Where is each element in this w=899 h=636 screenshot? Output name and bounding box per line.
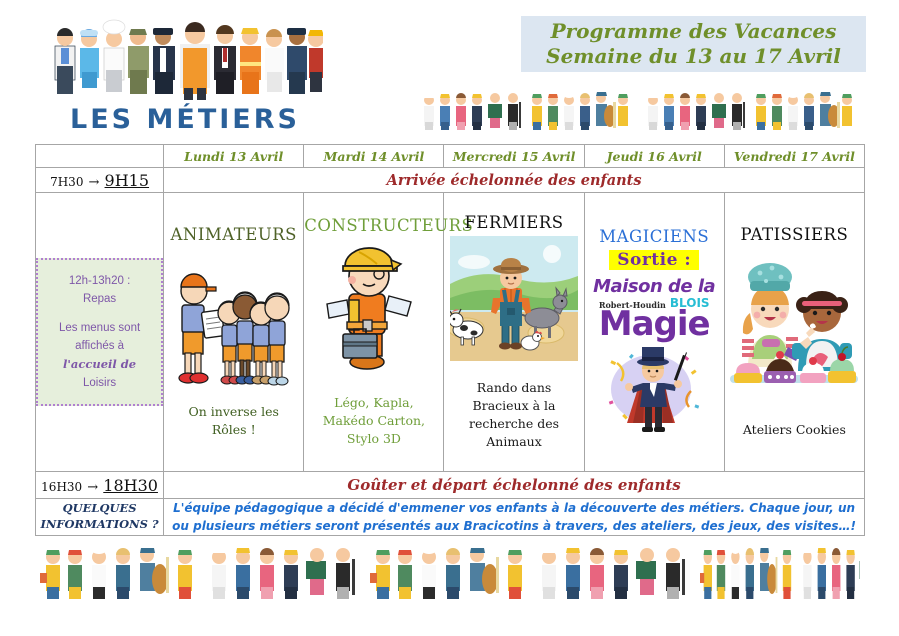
kids-strip-bottom bbox=[40, 543, 860, 603]
les-metiers-logo: LES MÉTIERS bbox=[35, 4, 335, 140]
meal-info-box: 12h-13h20 : Repas Les menus sont affiché… bbox=[36, 258, 163, 406]
farmer-farm-scene-icon bbox=[450, 236, 578, 361]
day-header-mardi: Mardi 14 Avril bbox=[304, 145, 444, 168]
magic-poster: Sortie : Maison de la Robert-Houdin BLOI… bbox=[588, 250, 720, 341]
info-label-line2: INFORMATIONS ? bbox=[36, 517, 163, 533]
activity-image-magiciens bbox=[585, 345, 724, 437]
activity-cell-constructeurs: CONSTRUCTEURS bbox=[304, 193, 444, 472]
activity-caption-constructeurs: Légo, Kapla, Makédo Carton, Stylo 3D bbox=[304, 394, 443, 448]
info-label-line1: QUELQUES bbox=[36, 501, 163, 517]
day-header-row: Lundi 13 Avril Mardi 14 Avril Mercredi 1… bbox=[36, 145, 865, 168]
info-label-cell: QUELQUES INFORMATIONS ? bbox=[36, 499, 164, 536]
arrival-time-start: 7H30 bbox=[50, 175, 83, 189]
meal-line4: affichés à bbox=[42, 337, 157, 355]
maison-de-la-magie-logo: Maison de la Robert-Houdin BLOIS Magie bbox=[588, 278, 720, 341]
departure-time-cell: 16H30 → 18H30 bbox=[36, 472, 164, 499]
children-professions-border-icon bbox=[40, 543, 860, 603]
activity-image-fermiers bbox=[444, 236, 583, 361]
magician-icon bbox=[595, 345, 713, 437]
poster-header: LES MÉTIERS Programme des Vacances Semai… bbox=[0, 0, 899, 140]
sortie-label: Sortie : bbox=[609, 250, 699, 270]
day-header-vendredi: Vendredi 17 Avril bbox=[724, 145, 864, 168]
activity-image-animateurs bbox=[164, 247, 303, 397]
activity-caption-fermiers: Rando dans Bracieux à la recherche des A… bbox=[444, 379, 583, 452]
info-row: QUELQUES INFORMATIONS ? L'équipe pédagog… bbox=[36, 499, 865, 536]
meal-line2: Repas bbox=[42, 290, 157, 308]
activity-image-constructeurs bbox=[304, 238, 443, 388]
activity-caption-patissiers: Ateliers Cookies bbox=[725, 421, 864, 439]
activity-title-magiciens: MAGICIENS bbox=[585, 229, 724, 246]
program-poster: LES MÉTIERS Programme des Vacances Semai… bbox=[0, 0, 899, 636]
page-title-line1: Programme des Vacances bbox=[551, 19, 837, 44]
activity-cell-animateurs: ANIMATEURS bbox=[164, 193, 304, 472]
departure-time-start: 16H30 bbox=[41, 480, 82, 494]
departure-arrow-icon: → bbox=[87, 480, 98, 495]
arrival-arrow-icon: → bbox=[89, 175, 100, 190]
poster-title-box: Programme des Vacances Semaine du 13 au … bbox=[521, 16, 866, 72]
weekly-program-table: Lundi 13 Avril Mardi 14 Avril Mercredi 1… bbox=[35, 144, 865, 536]
activity-image-patissiers bbox=[725, 247, 864, 407]
meal-line1: 12h-13h20 : bbox=[42, 272, 157, 290]
day-header-mercredi: Mercredi 15 Avril bbox=[444, 145, 584, 168]
info-text: L'équipe pédagogique a décidé d'emmener … bbox=[164, 499, 865, 536]
meal-line5: l'accueil de bbox=[42, 355, 157, 373]
arrival-time-end: 9H15 bbox=[105, 171, 150, 190]
departure-banner: Goûter et départ échelonné des enfants bbox=[164, 472, 865, 499]
day-header-lundi: Lundi 13 Avril bbox=[164, 145, 304, 168]
arrival-row: 7H30 → 9H15 Arrivée échelonnée des enfan… bbox=[36, 168, 865, 193]
meal-line3: Les menus sont bbox=[42, 319, 157, 337]
meal-info-cell: 12h-13h20 : Repas Les menus sont affiché… bbox=[36, 193, 164, 472]
activity-title-patissiers: PATISSIERS bbox=[725, 227, 864, 244]
magic-logo-maison: Maison de la bbox=[588, 278, 720, 296]
departure-time-end: 18H30 bbox=[103, 476, 158, 495]
day-header-jeudi: Jeudi 16 Avril bbox=[584, 145, 724, 168]
activity-caption-animateurs: On inverse les Rôles ! bbox=[164, 403, 303, 439]
arrival-time-cell: 7H30 → 9H15 bbox=[36, 168, 164, 193]
page-title-line2: Semaine du 13 au 17 Avril bbox=[546, 44, 841, 69]
activity-title-fermiers: FERMIERS bbox=[444, 215, 583, 232]
magic-logo-magie: Magie bbox=[588, 307, 720, 341]
activity-cell-patissiers: PATISSIERS bbox=[724, 193, 864, 472]
arrival-banner: Arrivée échelonnée des enfants bbox=[164, 168, 865, 193]
meal-line6: Loisirs bbox=[42, 374, 157, 392]
departure-row: 16H30 → 18H30 Goûter et départ échelonné… bbox=[36, 472, 865, 499]
activities-row: 12h-13h20 : Repas Les menus sont affiché… bbox=[36, 193, 865, 472]
logo-title: LES MÉTIERS bbox=[35, 104, 335, 135]
builder-icon bbox=[319, 238, 429, 388]
counselor-with-children-icon bbox=[170, 247, 298, 397]
activity-title-constructeurs: CONSTRUCTEURS bbox=[304, 218, 443, 235]
activity-cell-magiciens: MAGICIENS Sortie : Maison de la Robert-H… bbox=[584, 193, 724, 472]
girls-baking-icon bbox=[730, 247, 858, 407]
corner-cell bbox=[36, 145, 164, 168]
children-professions-icon bbox=[420, 88, 880, 134]
activity-title-animateurs: ANIMATEURS bbox=[164, 227, 303, 244]
kids-strip-top bbox=[420, 88, 880, 134]
professionals-illustration-icon bbox=[47, 10, 323, 102]
